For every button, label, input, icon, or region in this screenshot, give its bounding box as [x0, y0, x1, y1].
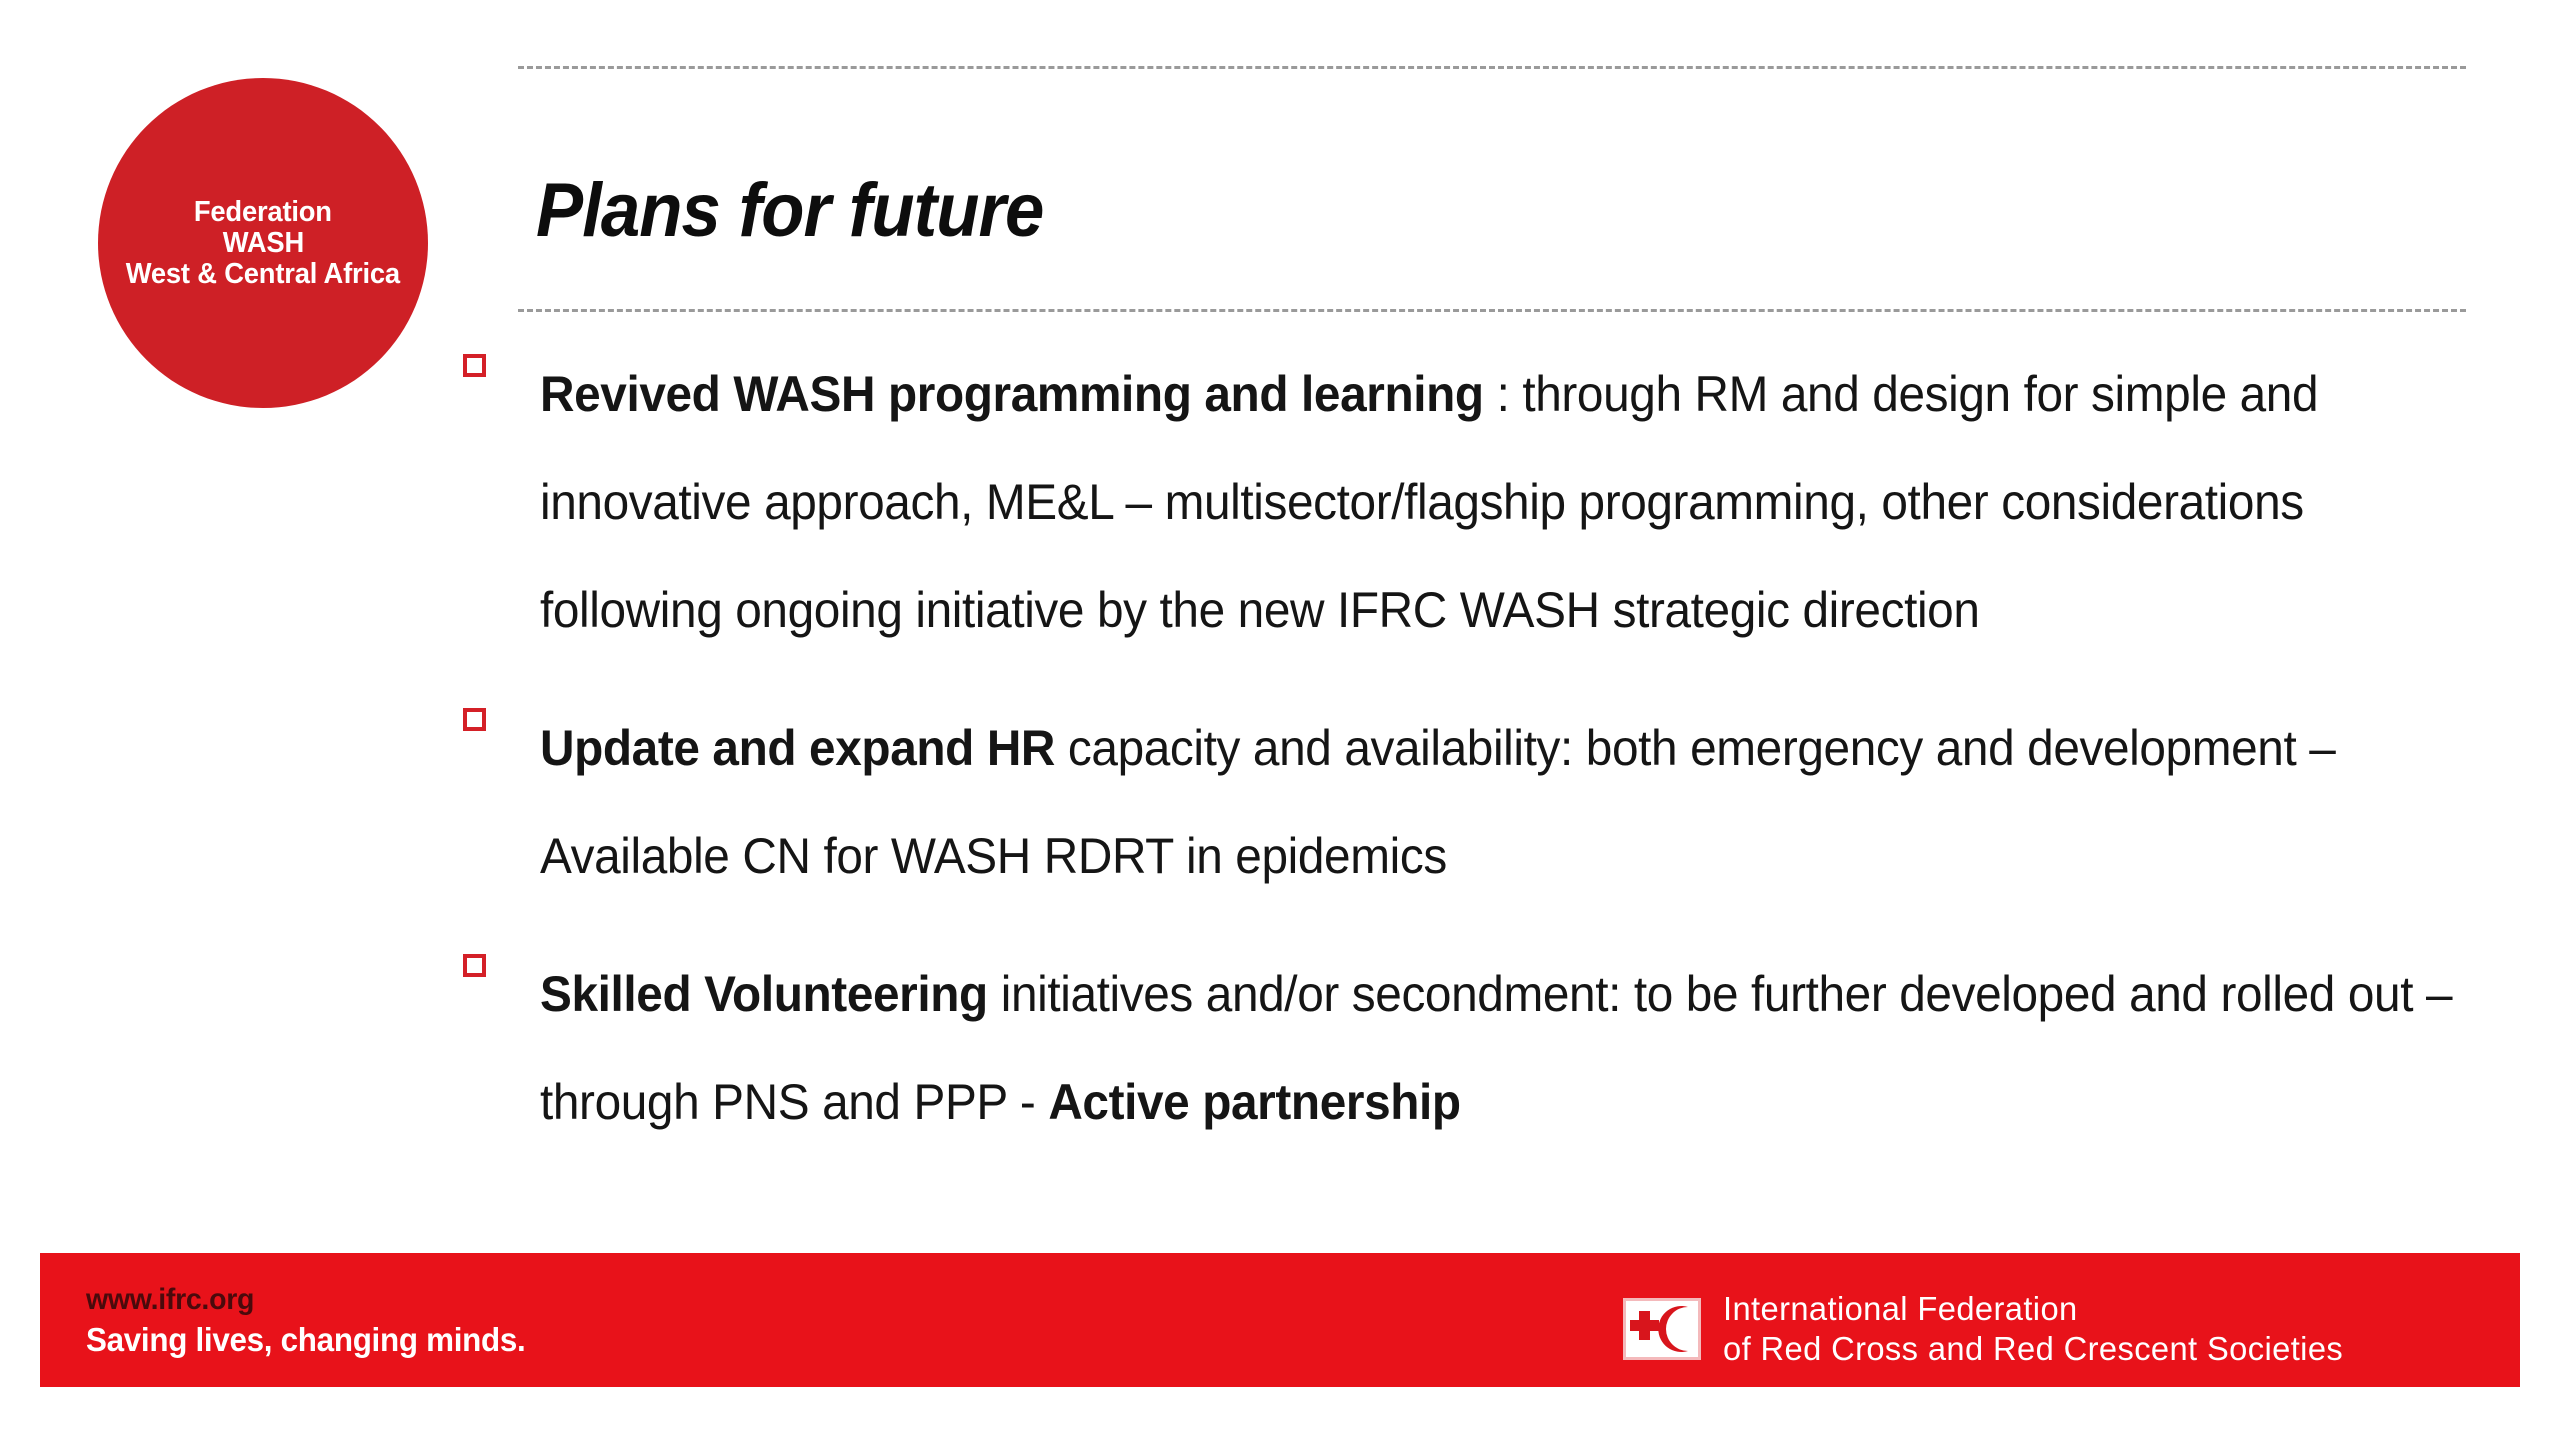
logo-line-1: Federation [194, 197, 332, 228]
logo-line-2: WASH [222, 228, 303, 259]
red-hollow-square-bullet-icon [463, 954, 486, 977]
list-item-bold-tail: Active partnership [1048, 1074, 1460, 1130]
wash-region-logo: Federation WASH West & Central Africa [98, 78, 428, 408]
list-item-text: Revived WASH programming and learning : … [540, 340, 2488, 664]
slide-footer: www.ifrc.org Saving lives, changing mind… [40, 1253, 2520, 1387]
footer-text-block: www.ifrc.org Saving lives, changing mind… [86, 1281, 549, 1361]
bullet-list: Revived WASH programming and learning : … [460, 340, 2520, 1156]
red-cross-red-crescent-emblem-icon [1623, 1298, 1701, 1360]
footer-website-link[interactable]: www.ifrc.org [86, 1281, 525, 1319]
footer-tagline: Saving lives, changing minds. [86, 1319, 525, 1361]
red-hollow-square-bullet-icon [463, 354, 486, 377]
logo-line-3: West & Central Africa [126, 259, 400, 290]
list-item: Revived WASH programming and learning : … [460, 340, 2520, 664]
title-divider-bottom [518, 309, 2466, 312]
brand-name-text: International Federation of Red Cross an… [1723, 1289, 2349, 1369]
list-item-bold-lead: Update and expand HR [540, 720, 1055, 776]
title-divider-top [518, 66, 2466, 69]
page-title: Plans for future [536, 168, 1043, 254]
ifrc-brand-lockup: International Federation of Red Cross an… [1623, 1289, 2349, 1369]
emblem-svg [1626, 1301, 1698, 1357]
list-item: Update and expand HR capacity and availa… [460, 694, 2520, 910]
brand-line-1: International Federation [1723, 1289, 2343, 1329]
brand-line-2: of Red Cross and Red Crescent Societies [1723, 1329, 2343, 1369]
list-item-text: Update and expand HR capacity and availa… [540, 694, 2488, 910]
list-item: Skilled Volunteering initiatives and/or … [460, 940, 2520, 1156]
list-item-text: Skilled Volunteering initiatives and/or … [540, 940, 2488, 1156]
slide-canvas: Federation WASH West & Central Africa Pl… [0, 0, 2560, 1440]
red-hollow-square-bullet-icon [463, 708, 486, 731]
list-item-bold-lead: Skilled Volunteering [540, 966, 988, 1022]
list-item-bold-lead: Revived WASH programming and learning [540, 366, 1484, 422]
